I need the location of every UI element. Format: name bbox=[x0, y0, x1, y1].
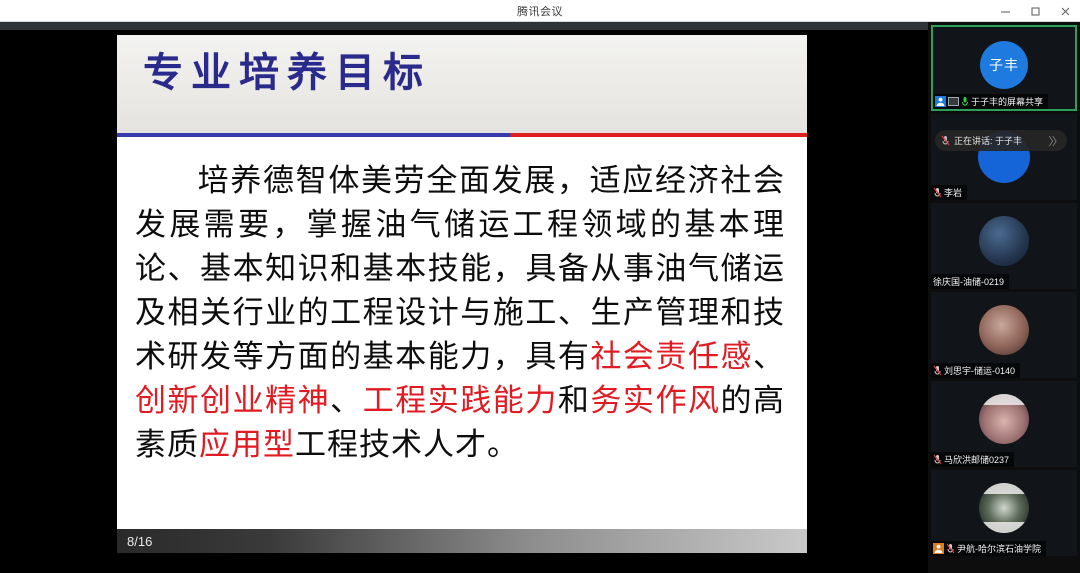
title-bar: 腾讯会议 bbox=[0, 0, 1080, 22]
maximize-button[interactable] bbox=[1020, 0, 1050, 22]
microphone-muted-icon bbox=[933, 454, 942, 465]
slide-text-plain: 、 bbox=[753, 339, 785, 375]
presentation-slide: 专业培养目标 培养德智体美劳全面发展，适应经济社会发展需要，掌握油气储运工程领域… bbox=[117, 35, 807, 553]
participant-label: 李岩 bbox=[931, 185, 967, 200]
slide-text-highlight: 应用型 bbox=[199, 427, 295, 463]
chevron-collapse-icon[interactable]: 〉〉 bbox=[1049, 133, 1062, 149]
participant-name: 尹航-哈尔滨石油学院 bbox=[957, 542, 1041, 555]
participant-name: 刘思宇-储运-0140 bbox=[944, 364, 1015, 377]
photo-top-band bbox=[979, 394, 1029, 405]
speaking-toast: 正在讲话: 于子丰 〉〉 bbox=[935, 130, 1067, 151]
slide-text-highlight: 务实作风 bbox=[590, 383, 720, 419]
slide-text-highlight: 社会责任感 bbox=[590, 339, 753, 375]
participant-name: 马欣洪邮储0237 bbox=[944, 453, 1009, 466]
slide-body-runs: 培养德智体美劳全面发展，适应经济社会发展需要，掌握油气储运工程领域的基本理论、基… bbox=[135, 163, 785, 463]
microphone-muted-icon bbox=[933, 365, 942, 376]
participant-name: 李岩 bbox=[944, 186, 962, 199]
participant-tile-liyan[interactable]: 正在讲话: 于子丰 〉〉 李岩 bbox=[931, 114, 1077, 200]
microphone-muted-icon bbox=[941, 135, 950, 146]
participant-label: 徐庆国-油储-0219 bbox=[931, 274, 1009, 289]
participant-tile-xuqingguo[interactable]: 徐庆国-油储-0219 bbox=[931, 203, 1077, 289]
participant-name: 于子丰的屏幕共享 bbox=[971, 95, 1043, 108]
avatar bbox=[979, 305, 1029, 355]
window-controls bbox=[990, 0, 1080, 22]
host-icon bbox=[935, 96, 946, 107]
photo-top-band bbox=[979, 483, 1029, 494]
remote-desktop-band bbox=[0, 22, 928, 30]
participant-tile-yinhang[interactable]: 尹航-哈尔滨石油学院 bbox=[931, 470, 1077, 556]
slide-header: 专业培养目标 bbox=[117, 35, 807, 137]
microphone-on-icon bbox=[961, 96, 969, 107]
photo-bottom-band bbox=[979, 522, 1029, 533]
participant-label: 尹航-哈尔滨石油学院 bbox=[931, 541, 1046, 556]
avatar bbox=[979, 216, 1029, 266]
minimize-button[interactable] bbox=[990, 0, 1020, 22]
slide-text-plain: 、 bbox=[330, 383, 363, 419]
slide-text-plain: 和 bbox=[558, 383, 591, 419]
slide-page-indicator: 8/16 bbox=[117, 529, 807, 553]
window-title: 腾讯会议 bbox=[517, 3, 563, 19]
participant-label: 于子丰的屏幕共享 bbox=[933, 94, 1048, 109]
slide-text-plain: 工程技术人才。 bbox=[295, 427, 519, 463]
avatar: 子丰 bbox=[980, 41, 1028, 89]
participant-label: 刘思宇-储运-0140 bbox=[931, 363, 1020, 378]
participant-tile-liusiyu[interactable]: 刘思宇-储运-0140 bbox=[931, 292, 1077, 378]
close-button[interactable] bbox=[1050, 0, 1080, 22]
microphone-muted-icon bbox=[946, 543, 955, 554]
microphone-muted-icon bbox=[933, 187, 942, 198]
speaking-toast-text: 正在讲话: 于子丰 bbox=[954, 134, 1022, 147]
slide-text-highlight: 创新创业精神 bbox=[135, 383, 330, 419]
participant-name: 徐庆国-油储-0219 bbox=[933, 275, 1004, 288]
title-divider-rule bbox=[117, 133, 807, 137]
participant-tile-screen-share[interactable]: 子丰 于子丰的屏幕共享 bbox=[931, 25, 1077, 111]
shared-screen-area: 专业培养目标 培养德智体美劳全面发展，适应经济社会发展需要，掌握油气储运工程领域… bbox=[0, 22, 928, 552]
slide-text-highlight: 工程实践能力 bbox=[363, 383, 558, 419]
participant-label: 马欣洪邮储0237 bbox=[931, 452, 1014, 467]
host-icon bbox=[933, 543, 944, 554]
slide-body-text: 培养德智体美劳全面发展，适应经济社会发展需要，掌握油气储运工程领域的基本理论、基… bbox=[117, 137, 807, 467]
tencent-meeting-window: 腾讯会议 专业培养目标 培养德智体美劳全面发展，适应经济社会发展需要，掌握油气储… bbox=[0, 0, 1080, 573]
participant-tile-maxinhong[interactable]: 马欣洪邮储0237 bbox=[931, 381, 1077, 467]
slide-title: 专业培养目标 bbox=[135, 53, 807, 93]
screen-share-icon bbox=[948, 97, 959, 106]
avatar bbox=[979, 483, 1029, 533]
avatar bbox=[979, 394, 1029, 444]
participant-rail[interactable]: 子丰 于子丰的屏幕共享 正在讲话: 于子丰 〉〉 bbox=[928, 22, 1080, 573]
